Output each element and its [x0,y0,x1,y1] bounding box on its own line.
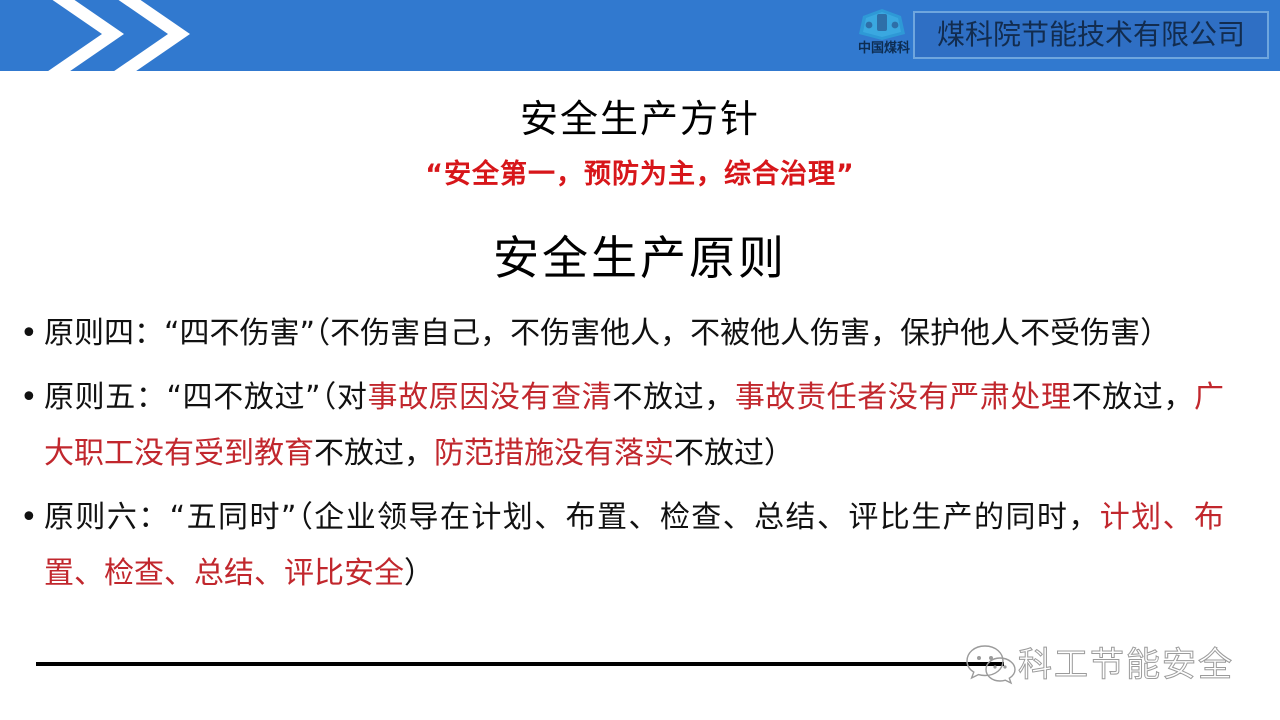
body-text: 原则六：“五同时”（企业领导在计划、布置、检查、总结、评比生产的同时， [44,500,1100,535]
body-text: ） [404,556,434,591]
bullet-marker-icon: • [20,306,38,362]
body-text: 不放过， [314,436,434,471]
list-item: • 原则四：“四不伤害”（不伤害自己，不伤害他人，不被他人伤害，保护他人不受伤害… [14,306,1224,362]
china-coal-technology-emblem-icon [851,8,913,42]
highlight-text: 防范措施没有落实 [434,436,674,471]
slide-header-band: 中国煤科 煤科院节能技术有限公司 [0,0,1280,71]
body-text: 不放过， [1072,380,1194,415]
highlight-text: 事故原因没有查清 [367,380,612,415]
wechat-icon [965,642,1017,688]
principle-5-text: 原则五：“四不放过”（对事故原因没有查清不放过，事故责任者没有严肃处理不放过，广… [44,380,1224,471]
body-text: 不放过） [674,436,794,471]
footer-divider [36,662,1004,666]
principle-4-text: 原则四：“四不伤害”（不伤害自己，不伤害他人，不被他人伤害，保护他人不受伤害） [44,316,1170,351]
company-name-label: 煤科院节能技术有限公司 [915,13,1267,57]
bullet-marker-icon: • [20,370,38,426]
watermark-text: 科工节能安全 [1018,642,1234,688]
double-chevron-right-icon [38,0,228,71]
body-text: 不放过， [612,380,734,415]
watermark: 科工节能安全 [960,640,1280,700]
company-name-box: 煤科院节能技术有限公司 [913,11,1269,59]
bullet-marker-icon: • [20,490,38,546]
principle-6-text: 原则六：“五同时”（企业领导在计划、布置、检查、总结、评比生产的同时，计划、布置… [44,500,1224,591]
page-subtitle-safety-slogan: “安全第一，预防为主，综合治理” [0,152,1280,191]
body-text: 原则五：“四不放过”（对 [44,380,367,415]
list-item: • 原则六：“五同时”（企业领导在计划、布置、检查、总结、评比生产的同时，计划、… [14,490,1224,602]
page-title-safety-policy: 安全生产方针 [0,88,1280,143]
body-text: 原则四：“四不伤害”（不伤害自己，不伤害他人，不被他人伤害，保护他人不受伤害） [44,316,1170,351]
list-item: • 原则五：“四不放过”（对事故原因没有查清不放过，事故责任者没有严肃处理不放过… [14,370,1224,482]
highlight-text: 事故责任者没有严肃处理 [735,380,1072,415]
principles-list: • 原则四：“四不伤害”（不伤害自己，不伤害他人，不被他人伤害，保护他人不受伤害… [14,306,1224,610]
page-title-safety-principles: 安全生产原则 [0,222,1280,288]
